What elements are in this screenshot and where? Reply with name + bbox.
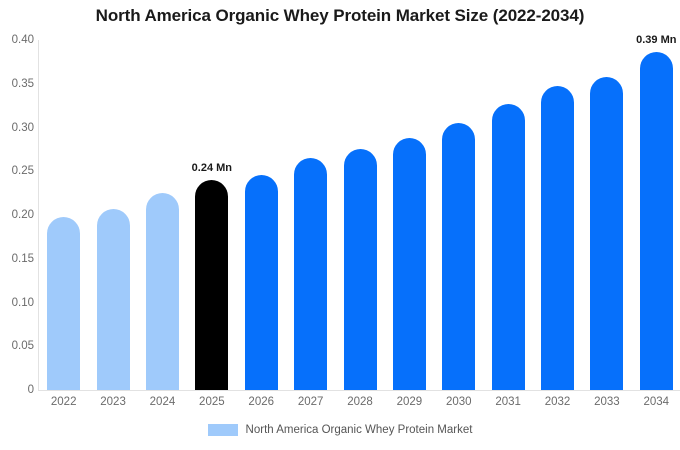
bar-2033[interactable]: [590, 77, 623, 390]
y-axis-tick-label: 0.40: [2, 34, 34, 46]
bar-value-label-2025: 0.24 Mn: [177, 162, 247, 174]
bar-2022[interactable]: [47, 217, 80, 390]
y-axis: 00.050.100.150.200.250.300.350.40: [0, 0, 34, 450]
bar-2028[interactable]: [344, 149, 377, 390]
x-axis-tick-label: 2034: [633, 396, 680, 408]
y-axis-tick-label: 0.35: [2, 78, 34, 90]
y-axis-tick-label: 0.30: [2, 122, 34, 134]
y-axis-tick-label: 0.15: [2, 253, 34, 265]
bar-2034[interactable]: [640, 52, 673, 390]
plot-area: [38, 40, 680, 390]
x-axis-tick-label: 2029: [386, 396, 433, 408]
bar-2024[interactable]: [146, 193, 179, 390]
y-axis-tick-label: 0: [2, 384, 34, 396]
chart-legend: North America Organic Whey Protein Marke…: [0, 424, 680, 436]
x-axis-tick-label: 2027: [287, 396, 334, 408]
chart-container: North America Organic Whey Protein Marke…: [0, 0, 680, 450]
bar-2025[interactable]: [195, 180, 228, 390]
x-axis-tick-label: 2022: [40, 396, 87, 408]
x-axis-tick-label: 2026: [238, 396, 285, 408]
x-axis-tick-label: 2031: [485, 396, 532, 408]
legend-swatch: [208, 424, 238, 436]
bar-2023[interactable]: [97, 209, 130, 390]
y-axis-tick-label: 0.20: [2, 209, 34, 221]
x-axis-tick-label: 2025: [188, 396, 235, 408]
x-axis-tick-label: 2033: [583, 396, 630, 408]
x-axis-tick-label: 2028: [337, 396, 384, 408]
chart-title: North America Organic Whey Protein Marke…: [0, 6, 680, 26]
bar-value-label-2034: 0.39 Mn: [621, 34, 680, 46]
bar-2032[interactable]: [541, 86, 574, 390]
x-axis-tick-label: 2024: [139, 396, 186, 408]
bar-2030[interactable]: [442, 123, 475, 390]
y-axis-tick-label: 0.05: [2, 340, 34, 352]
bar-2029[interactable]: [393, 138, 426, 390]
y-axis-tick-label: 0.10: [2, 297, 34, 309]
x-axis-tick-label: 2023: [90, 396, 137, 408]
x-axis-tick-label: 2032: [534, 396, 581, 408]
bar-2031[interactable]: [492, 104, 525, 390]
y-axis-tick-label: 0.25: [2, 165, 34, 177]
x-axis-tick-label: 2030: [435, 396, 482, 408]
legend-label: North America Organic Whey Protein Marke…: [246, 424, 473, 436]
x-axis-line: [38, 390, 680, 391]
bar-2027[interactable]: [294, 158, 327, 390]
bar-2026[interactable]: [245, 175, 278, 390]
